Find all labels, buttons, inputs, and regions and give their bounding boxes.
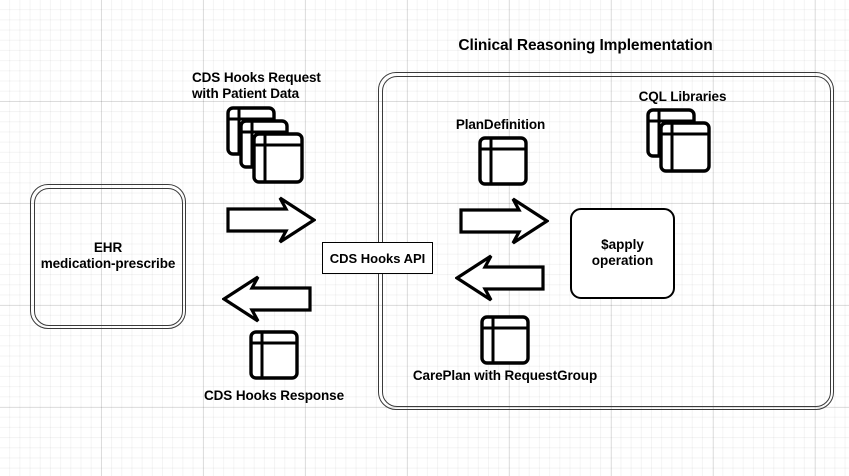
cds-hooks-request-label: CDS Hooks Request with Patient Data — [192, 70, 402, 103]
careplan-icon — [480, 315, 530, 370]
plandefinition-icon — [478, 136, 528, 191]
cds-hooks-response-icon — [249, 330, 299, 385]
arrow-api-to-apply — [459, 197, 549, 250]
cds-hooks-response-label: CDS Hooks Response — [174, 388, 374, 404]
diagram-canvas: Clinical Reasoning Implementation EHR me… — [0, 0, 849, 476]
apply-operation-label: $apply operation — [572, 237, 673, 271]
plandefinition-label: PlanDefinition — [427, 117, 574, 133]
cds-hooks-api-box[interactable]: CDS Hooks API — [322, 242, 433, 274]
arrow-ehr-to-api — [226, 196, 316, 249]
cds-hooks-api-label: CDS Hooks API — [330, 251, 426, 266]
page-title: Clinical Reasoning Implementation — [161, 37, 849, 56]
careplan-label: CarePlan with RequestGroup — [402, 368, 608, 384]
ehr-label: EHR medication-prescribe — [30, 240, 186, 273]
apply-operation-box[interactable]: $apply operation — [570, 208, 675, 299]
cds-hooks-request-icon — [226, 106, 308, 191]
cql-libraries-label: CQL Libraries — [609, 89, 756, 105]
arrow-api-to-ehr — [222, 275, 312, 328]
arrow-apply-to-api — [455, 254, 545, 307]
cql-libraries-icon — [646, 108, 714, 179]
